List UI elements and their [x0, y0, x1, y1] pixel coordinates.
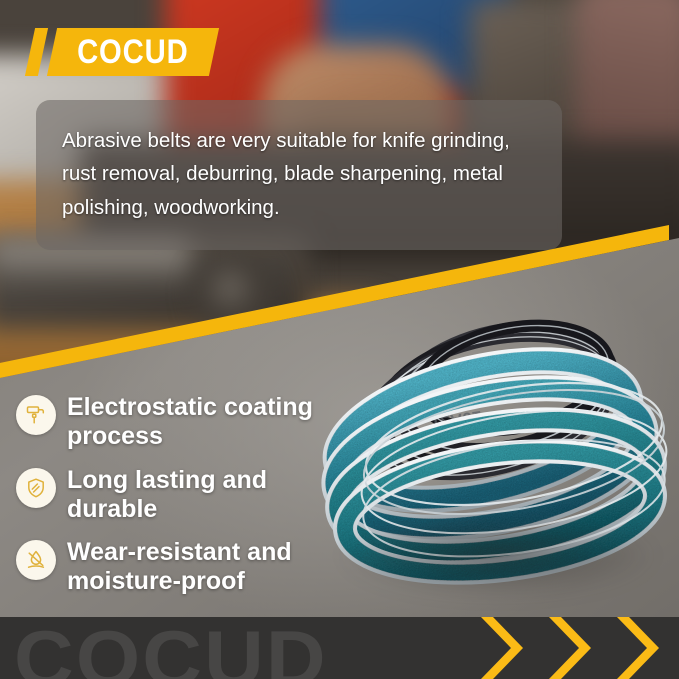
product-marketing-image: COCUD Abrasive belts are very suitable f…: [0, 0, 679, 679]
product-shadow: [338, 513, 658, 598]
chevron-group: [467, 617, 671, 679]
chevron-right-icon: [609, 617, 671, 679]
description-card: Abrasive belts are very suitable for kni…: [36, 100, 562, 250]
chevron-right-icon: [473, 617, 535, 679]
feature-list: Electrostatic coating process Long lasti…: [16, 392, 352, 610]
feature-item: Electrostatic coating process: [16, 392, 352, 452]
description-text: Abrasive belts are very suitable for kni…: [62, 124, 536, 224]
feature-label: Electrostatic coating process: [67, 392, 352, 452]
no-moisture-icon: [24, 548, 48, 572]
feature-icon-badge: [16, 540, 56, 580]
feature-icon-badge: [16, 468, 56, 508]
shield-icon: [24, 476, 48, 500]
bottom-watermark-text: COCUD: [14, 619, 328, 679]
bottom-bar: COCUD: [0, 617, 679, 679]
chevron-right-icon: [541, 617, 603, 679]
logo-plate: COCUD: [47, 28, 219, 76]
feature-item: Wear-resistant and moisture-proof: [16, 537, 352, 597]
feature-label: Long lasting and durable: [67, 465, 352, 525]
product-image: 1ZA61: [318, 318, 679, 618]
paint-roller-icon: [24, 403, 48, 427]
feature-icon-badge: [16, 395, 56, 435]
feature-label: Wear-resistant and moisture-proof: [67, 537, 352, 597]
feature-item: Long lasting and durable: [16, 465, 352, 525]
logo-label: COCUD: [77, 35, 189, 69]
